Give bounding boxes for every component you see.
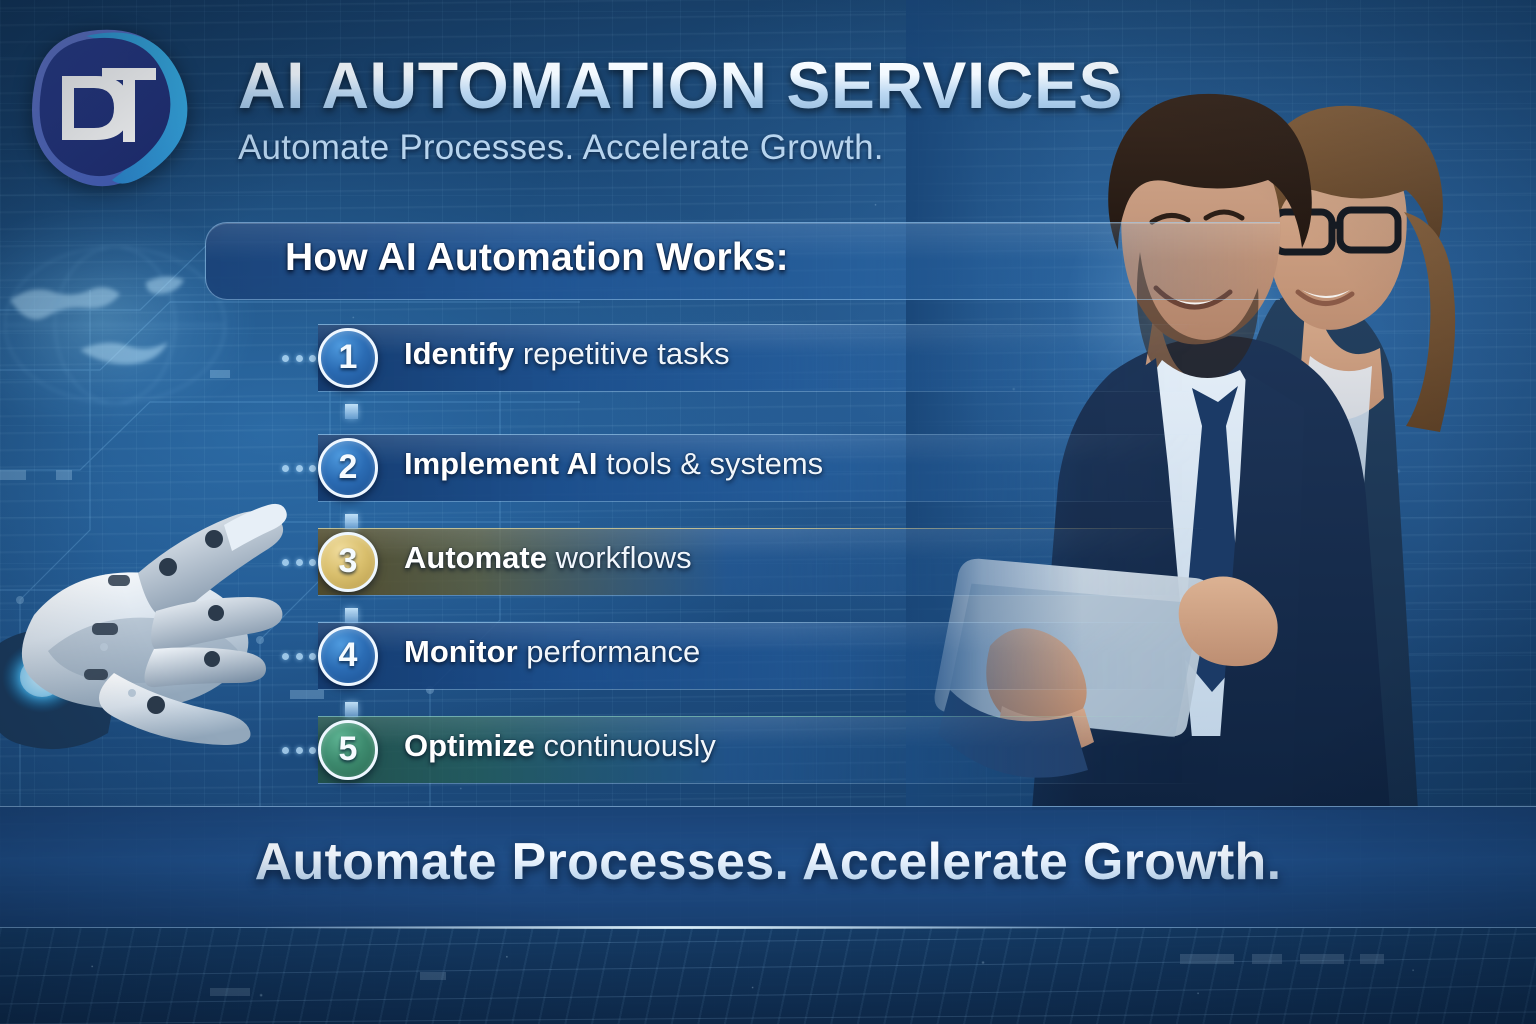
page-subtitle: Automate Processes. Accelerate Growth. [238, 128, 1123, 168]
step-number-3: 3 [339, 544, 358, 578]
step-number-2: 2 [339, 450, 358, 484]
step-row-2[interactable]: 2 Implement AI tools & systems [0, 430, 1536, 506]
step-badge-5: 5 [318, 720, 378, 780]
step-rest-1: repetitive tasks [514, 336, 729, 371]
step-row-5[interactable]: 5 Optimize continuously [0, 712, 1536, 788]
step-row-4[interactable]: 4 Monitor performance [0, 618, 1536, 694]
step-connector-4-5 [345, 702, 358, 717]
step-lead-dots-5 [282, 746, 316, 755]
bottom-tech-strip [0, 928, 1536, 1024]
step-strong-2: Implement AI [404, 446, 598, 481]
step-number-5: 5 [339, 732, 358, 766]
step-connector-2-3 [345, 514, 358, 529]
step-strong-3: Automate [404, 540, 547, 575]
step-lead-dots-4 [282, 652, 316, 661]
step-badge-3: 3 [318, 532, 378, 592]
infographic-poster: AI AUTOMATION SERVICES Automate Processe… [0, 0, 1536, 1024]
step-badge-2: 2 [318, 438, 378, 498]
page-title: AI AUTOMATION SERVICES [238, 52, 1123, 118]
step-rest-4: performance [518, 634, 701, 669]
section-heading: How AI Automation Works: [285, 236, 789, 280]
dt-shield-logo[interactable] [16, 18, 198, 198]
step-label-2: Implement AI tools & systems [404, 446, 823, 482]
step-lead-dots-2 [282, 464, 316, 473]
step-label-1: Identify repetitive tasks [404, 336, 730, 372]
step-connector-3-4 [345, 608, 358, 623]
step-row-3[interactable]: 3 Automate workflows [0, 524, 1536, 600]
step-label-5: Optimize continuously [404, 728, 716, 764]
step-strong-5: Optimize [404, 728, 535, 763]
header-text-block: AI AUTOMATION SERVICES Automate Processe… [238, 52, 1123, 168]
step-rest-5: continuously [535, 728, 716, 763]
step-label-4: Monitor performance [404, 634, 700, 670]
step-row-1[interactable]: 1 Identify repetitive tasks [0, 320, 1536, 396]
step-number-4: 4 [339, 638, 358, 672]
step-rest-3: workflows [547, 540, 692, 575]
step-connector-1-2 [345, 404, 358, 419]
step-strong-4: Monitor [404, 634, 518, 669]
footer-tagline: Automate Processes. Accelerate Growth. [0, 832, 1536, 892]
step-badge-4: 4 [318, 626, 378, 686]
step-badge-1: 1 [318, 328, 378, 388]
step-rest-2: tools & systems [598, 446, 824, 481]
step-label-3: Automate workflows [404, 540, 692, 576]
step-lead-dots-1 [282, 354, 316, 363]
steps-list: 1 Identify repetitive tasks 2 Implement … [0, 320, 1536, 780]
step-lead-dots-3 [282, 558, 316, 567]
step-strong-1: Identify [404, 336, 514, 371]
step-number-1: 1 [339, 340, 358, 374]
